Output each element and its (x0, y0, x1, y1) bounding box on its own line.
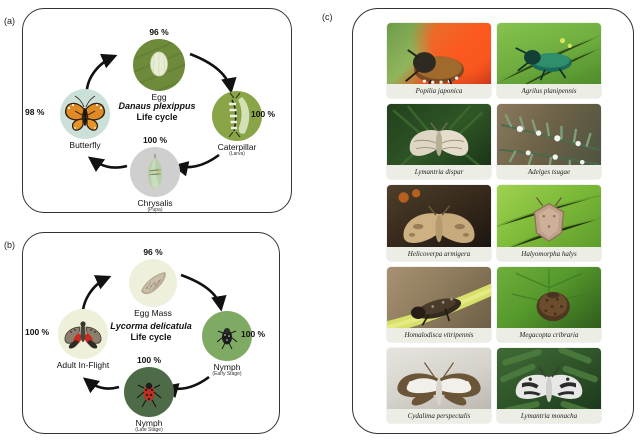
species-card[interactable]: Agrilus planipennis 98 % (497, 23, 601, 98)
species-card[interactable]: Megacopta cribraria 96 % (497, 267, 601, 342)
species-caption: Helicoverpa armigera (387, 247, 491, 261)
lifecycle-pct-caterpillar: 100 % (251, 109, 275, 119)
species-photo-homalodisca-vitripennis (387, 267, 491, 328)
lifecycle-pct-egg: 96 % (119, 27, 199, 37)
species-caption: Halyomorpha halys (497, 247, 601, 261)
egg-mass-icon (129, 259, 177, 307)
species-caption: Adelges tsugae (497, 165, 601, 179)
species-photo-agrilus-planipennis (497, 23, 601, 84)
panel-a-lifecycle-label: Life cycle (136, 112, 177, 122)
species-caption: Homalodisca vitripennis (387, 328, 491, 342)
panel-c-invasive-species-grid: Popilia japonica 100 % Agrilus planipenn… (352, 8, 634, 434)
lifecycle-node-egg: 96 % Egg (119, 27, 199, 102)
lifecycle-sub-nymph-late: (Late Stage) (109, 428, 189, 433)
glassy-winged-sharpshooter-icon (387, 267, 491, 328)
nun-moth-icon (497, 348, 601, 409)
species-photo-halyomorpha-halys (497, 185, 601, 246)
lifecycle-sub-nymph-early: (Early Stage) (191, 372, 263, 377)
species-caption: Megacopta cribraria (497, 328, 601, 342)
species-photo-cydalima-perspectalis (387, 348, 491, 409)
species-photo-adelges-tsugae (497, 104, 601, 165)
lifecycle-disc-egg-mass (129, 259, 177, 307)
species-card[interactable]: Helicoverpa armigera 92 % (387, 185, 491, 260)
emerald-ash-borer-icon (497, 23, 601, 84)
species-caption: Cydalima perspectalis (387, 409, 491, 423)
lifecycle-label-caterpillar: Caterpillar (Larva) (199, 143, 275, 157)
box-tree-moth-icon (387, 348, 491, 409)
species-card[interactable]: Adelges tsugae 100 % (497, 104, 601, 179)
lifecycle-node-egg-mass: 96 % Egg Mass (113, 247, 193, 318)
panel-a-center-title: Danaus plexippus Life cycle (101, 101, 213, 124)
panel-a-species-name: Danaus plexippus (118, 101, 195, 111)
lifecycle-sub-caterpillar: (Larva) (199, 152, 275, 157)
species-card[interactable]: Lymantria dispar 100 % (387, 104, 491, 179)
panel-c-tag: (c) (322, 12, 333, 22)
panel-b-lifecycle-label: Life cycle (130, 332, 171, 342)
species-photo-lymantria-monacha (497, 348, 601, 409)
lifecycle-pct-egg-mass: 96 % (113, 247, 193, 257)
species-caption: Popilia japonica (387, 84, 491, 98)
species-card[interactable]: Popilia japonica 100 % (387, 23, 491, 98)
gypsy-moth-icon (387, 104, 491, 165)
lifecycle-label-nymph-early: Nymph (Early Stage) (191, 363, 263, 377)
panel-b-center-title: Lycorma delicatula Life cycle (95, 321, 207, 344)
species-photo-helicoverpa-armigera (387, 185, 491, 246)
lifecycle-label-nymph-late: Nymph (Late Stage) (109, 419, 189, 433)
species-grid: Popilia japonica 100 % Agrilus planipenn… (387, 23, 601, 423)
chrysalis-icon (130, 147, 180, 197)
panel-a-monarch-life-cycle: 96 % Egg (22, 8, 292, 213)
brown-marmorated-stink-bug-icon (497, 185, 601, 246)
species-card[interactable]: Cydalima perspectalis 100 % (387, 348, 491, 423)
species-caption: Lymantria monacha (497, 409, 601, 423)
lifecycle-label-chrysalis: Chrysalis (Pupa) (115, 199, 195, 213)
species-card[interactable]: Lymantria monacha 100 % (497, 348, 601, 423)
lifecycle-pct-chrysalis: 100 % (115, 135, 195, 145)
egg-icon (133, 39, 185, 91)
panel-a-tag: (a) (4, 16, 15, 26)
lifecycle-label-egg-mass: Egg Mass (113, 309, 193, 318)
lifecycle-disc-egg (133, 39, 185, 91)
cotton-bollworm-icon (387, 185, 491, 246)
panel-b-lanternfly-life-cycle: 96 % Egg Mass (22, 232, 280, 434)
species-card[interactable]: Homalodisca vitripennis 100 % (387, 267, 491, 342)
panel-b-species-name: Lycorma delicatula (110, 321, 192, 331)
kudzu-bug-icon (497, 267, 601, 328)
lifecycle-disc-chrysalis (130, 147, 180, 197)
species-caption: Lymantria dispar (387, 165, 491, 179)
species-caption: Agrilus planipennis (497, 84, 601, 98)
nymph-late-icon (124, 367, 174, 417)
species-card[interactable]: Halyomorpha halys 98 % (497, 185, 601, 260)
lifecycle-disc-nymph-late (124, 367, 174, 417)
lifecycle-label-adult-in-flight: Adult In-Flight (41, 361, 125, 370)
lifecycle-node-chrysalis: 100 % Chrysalis (Pupa) (115, 135, 195, 213)
lifecycle-pct-nymph-early: 100 % (241, 329, 265, 339)
beetle-icon (387, 23, 491, 84)
panel-b-tag: (b) (4, 240, 15, 250)
lifecycle-pct-butterfly: 98 % (25, 107, 44, 117)
lifecycle-pct-adult-in-flight: 100 % (25, 327, 49, 337)
species-photo-lymantria-dispar (387, 104, 491, 165)
hemlock-woolly-adelgid-icon (497, 104, 601, 165)
species-photo-megacopta-cribraria (497, 267, 601, 328)
lifecycle-sub-chrysalis: (Pupa) (115, 208, 195, 213)
species-photo-popilia-japonica (387, 23, 491, 84)
lifecycle-label-butterfly: Butterfly (49, 141, 121, 150)
